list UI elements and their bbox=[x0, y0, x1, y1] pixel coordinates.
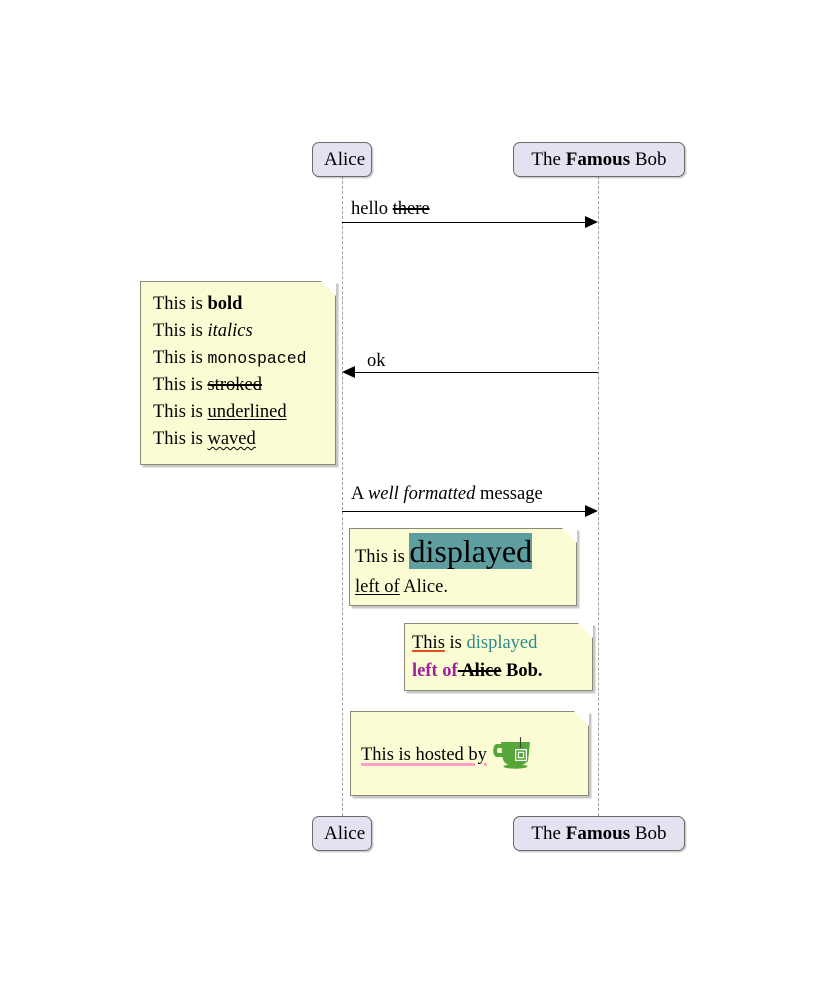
participant-alice-label: Alice bbox=[324, 823, 365, 844]
participant-bob-label-prefix: The bbox=[531, 823, 565, 844]
message-label-formatted: A well formatted message bbox=[351, 485, 543, 504]
participant-alice-bottom[interactable]: Alice bbox=[312, 816, 372, 851]
message-hello-strike: there bbox=[393, 199, 430, 219]
note-hosted-body: This is hosted by bbox=[351, 712, 588, 788]
message-hello-normal: hello bbox=[351, 199, 393, 219]
note-line-waved-value: waved bbox=[207, 429, 255, 449]
arrow-head-hello bbox=[585, 216, 598, 228]
participant-bob-bottom[interactable]: The Famous Bob bbox=[513, 816, 685, 851]
message-formatted-post: message bbox=[475, 484, 542, 504]
note-formatting-body: This is bold This is italics This is mon… bbox=[141, 282, 335, 462]
participant-alice-top[interactable]: Alice bbox=[312, 142, 372, 177]
message-line-hello[interactable] bbox=[342, 222, 592, 223]
message-formatted-italic: well formatted bbox=[368, 484, 475, 504]
note-line-monospaced-prefix: This is bbox=[153, 348, 207, 368]
note-displayed-left-prefix: This is bbox=[355, 547, 409, 567]
note-line-stroked-prefix: This is bbox=[153, 375, 207, 395]
note-colored-teal: displayed bbox=[466, 633, 537, 653]
note-hosted[interactable]: This is hosted by bbox=[350, 711, 589, 796]
note-colored-line2: left of Alice Bob. bbox=[412, 658, 584, 686]
note-colored-underlined: This bbox=[412, 633, 445, 653]
note-colored-purple: left of bbox=[412, 661, 458, 681]
note-line-bold-prefix: This is bbox=[153, 294, 207, 314]
participant-alice-label: Alice bbox=[324, 149, 365, 170]
message-label-hello: hello there bbox=[351, 200, 430, 219]
note-hosted-underlined: This is hosted by bbox=[361, 745, 487, 765]
note-line-stroked-value: stroked bbox=[207, 375, 261, 395]
participant-bob-top[interactable]: The Famous Bob bbox=[513, 142, 685, 177]
note-displayed-left-line2: left of Alice. bbox=[355, 574, 566, 601]
arrow-head-ok bbox=[342, 366, 355, 378]
note-displayed-left-body: This is displayed left of Alice. bbox=[350, 529, 576, 607]
participant-bob-label-suffix: Bob bbox=[630, 823, 666, 844]
message-label-ok: ok bbox=[367, 352, 386, 371]
note-hosted-line1: This is hosted by bbox=[361, 735, 578, 778]
message-ok-text: ok bbox=[367, 351, 386, 371]
note-line-underlined-prefix: This is bbox=[153, 402, 207, 422]
note-colored-line1: This is displayed bbox=[412, 630, 584, 658]
note-line-underlined: This is underlined bbox=[153, 399, 322, 426]
note-colored-bold: Bob. bbox=[501, 661, 542, 681]
note-displayed-left-line1: This is displayed bbox=[355, 533, 566, 570]
note-displayed-colored[interactable]: This is displayed left of Alice Bob. bbox=[404, 623, 593, 691]
lifeline-alice bbox=[342, 176, 343, 816]
note-colored-struck: Alice bbox=[458, 661, 502, 681]
note-displayed-left-highlight: displayed bbox=[409, 533, 532, 569]
note-displayed-colored-body: This is displayed left of Alice Bob. bbox=[405, 624, 592, 692]
note-line-monospaced: This is monospaced bbox=[153, 345, 322, 372]
message-formatted-pre: A bbox=[351, 484, 368, 504]
note-formatting[interactable]: This is bold This is italics This is mon… bbox=[140, 281, 336, 465]
note-line-monospaced-value: monospaced bbox=[207, 349, 306, 368]
note-displayed-left[interactable]: This is displayed left of Alice. bbox=[349, 528, 577, 606]
lifeline-bob bbox=[598, 176, 599, 816]
note-displayed-left-rest: Alice. bbox=[400, 577, 448, 597]
note-line-underlined-value: underlined bbox=[207, 402, 286, 422]
message-line-formatted[interactable] bbox=[342, 511, 592, 512]
participant-bob-label-bold: Famous bbox=[566, 823, 630, 844]
note-line-italics: This is italics bbox=[153, 318, 322, 345]
note-line-bold-value: bold bbox=[207, 294, 242, 314]
note-line-bold: This is bold bbox=[153, 291, 322, 318]
note-line-stroked: This is stroked bbox=[153, 372, 322, 399]
participant-bob-label-prefix: The bbox=[531, 149, 565, 170]
arrow-head-formatted bbox=[585, 505, 598, 517]
note-line-italics-value: italics bbox=[207, 321, 252, 341]
teacup-icon bbox=[492, 735, 534, 778]
note-line-waved-prefix: This is bbox=[153, 429, 207, 449]
note-line-italics-prefix: This is bbox=[153, 321, 207, 341]
note-displayed-left-underlined: left of bbox=[355, 577, 400, 597]
note-line-waved: This is waved bbox=[153, 426, 322, 453]
note-colored-mid: is bbox=[445, 633, 467, 653]
participant-bob-label-bold: Famous bbox=[566, 149, 630, 170]
participant-bob-label-suffix: Bob bbox=[630, 149, 666, 170]
message-line-ok[interactable] bbox=[355, 372, 598, 373]
sequence-diagram-canvas: Alice The Famous Bob hello there This is… bbox=[0, 0, 826, 992]
